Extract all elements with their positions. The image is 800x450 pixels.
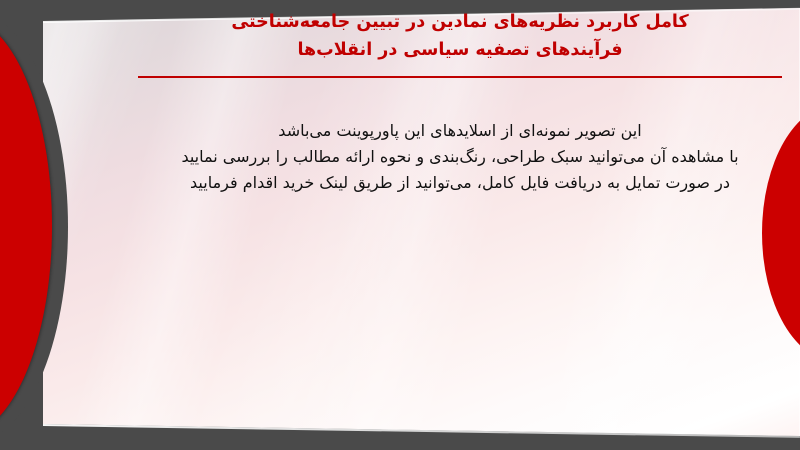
slide-title-line-2: فرآیندهای تصفیه سیاسی در انقلاب‌ها — [130, 36, 790, 64]
slide-body-text: این تصویر نمونه‌ای از اسلایدهای این پاور… — [150, 118, 770, 196]
slide-content-panel — [0, 0, 800, 450]
title-underline-rule — [138, 76, 782, 78]
body-line-3: در صورت تمایل به دریافت فایل کامل، می‌تو… — [150, 170, 770, 196]
slide-title: کامل کاربرد نظریه‌های نمادین در تبیین جا… — [130, 8, 790, 64]
body-line-2: با مشاهده آن می‌توانید سبک طراحی، رنگ‌بن… — [150, 144, 770, 170]
presentation-slide: کامل کاربرد نظریه‌های نمادین در تبیین جا… — [0, 0, 800, 450]
slide-title-line-1: کامل کاربرد نظریه‌های نمادین در تبیین جا… — [130, 8, 790, 36]
body-line-1: این تصویر نمونه‌ای از اسلایدهای این پاور… — [150, 118, 770, 144]
